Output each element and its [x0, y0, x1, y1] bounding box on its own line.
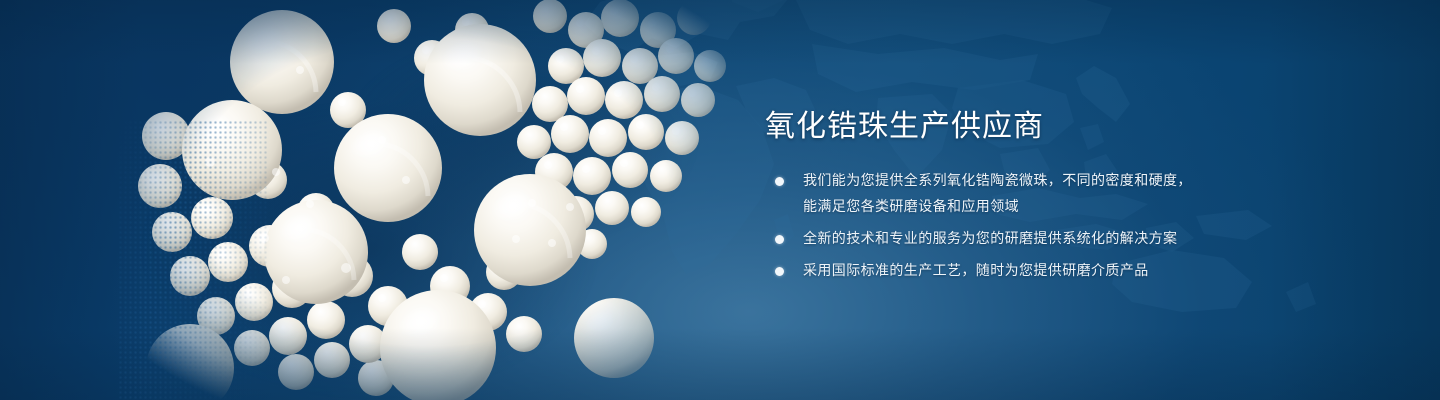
bullet-text-line-1: 我们能为您提供全系列氧化锆陶瓷微珠，不同的密度和硬度， [803, 173, 1192, 189]
bullet-text-line-1: 全新的技术和专业的服务为您的研磨提供系统化的解决方案 [803, 231, 1177, 247]
bullet-text-line-2: 能满足您各类研磨设备和应用领域 [803, 194, 1405, 220]
banner-headline: 氧化锆珠生产供应商 [765, 108, 1405, 146]
hero-banner: 氧化锆珠生产供应商 我们能为您提供全系列氧化锆陶瓷微珠，不同的密度和硬度， 能满… [0, 0, 1440, 400]
bullet-dot-icon [775, 235, 784, 244]
bullet-item: 采用国际标准的生产工艺，随时为您提供研磨介质产品 [775, 258, 1405, 284]
bullet-dot-icon [775, 177, 784, 186]
bullet-item: 我们能为您提供全系列氧化锆陶瓷微珠，不同的密度和硬度， 能满足您各类研磨设备和应… [775, 168, 1405, 220]
bullet-item: 全新的技术和专业的服务为您的研磨提供系统化的解决方案 [775, 226, 1405, 252]
banner-bullet-list: 我们能为您提供全系列氧化锆陶瓷微珠，不同的密度和硬度， 能满足您各类研磨设备和应… [775, 168, 1405, 284]
banner-copy: 氧化锆珠生产供应商 我们能为您提供全系列氧化锆陶瓷微珠，不同的密度和硬度， 能满… [765, 108, 1405, 290]
bullet-dot-icon [775, 267, 784, 276]
bullet-text-line-1: 采用国际标准的生产工艺，随时为您提供研磨介质产品 [803, 263, 1149, 279]
